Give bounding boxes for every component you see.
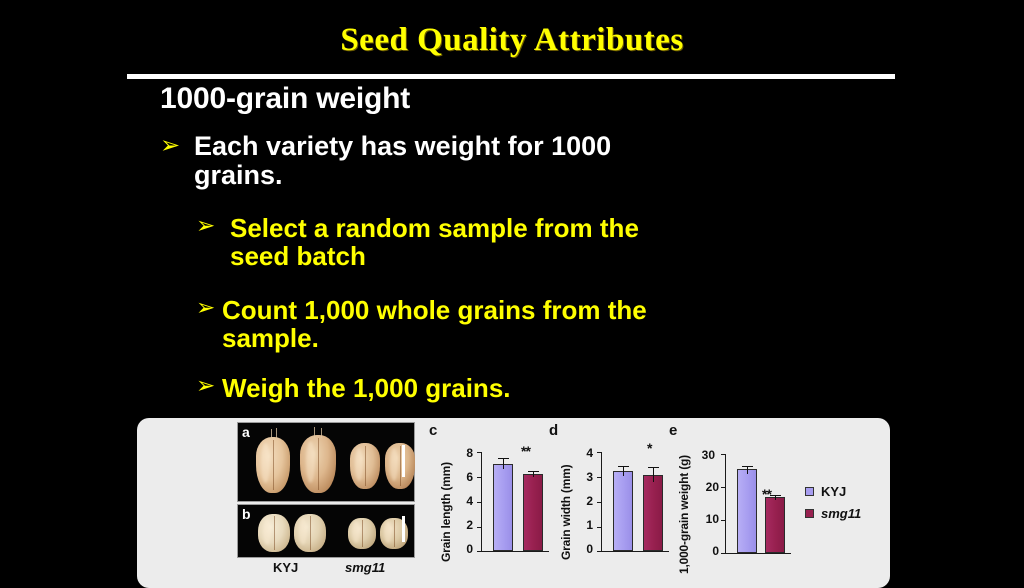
chart-c-errorbar-kyj [503, 459, 504, 469]
photo-panel-b: b [237, 504, 415, 558]
panel-label-a: a [242, 424, 250, 440]
arrow-bullet-icon: ➢ [196, 297, 222, 320]
bullet-item-2-text: Select a random sample from the seed bat… [222, 214, 639, 270]
seed-grain [300, 435, 336, 493]
panel-label-b: b [242, 506, 251, 522]
chart-d-yaxis [601, 452, 602, 552]
seed-vein [365, 446, 366, 486]
chart-e-tick [721, 553, 725, 554]
chart-d-ytick-2: 2 [571, 494, 593, 508]
seed-grain [294, 514, 326, 552]
seed-vein [310, 516, 311, 549]
legend-label-smg11: smg11 [821, 506, 861, 521]
scale-bar [402, 445, 405, 477]
chart-e-ytick-20: 20 [693, 480, 719, 494]
photo-caption-smg11: smg11 [345, 560, 385, 575]
title-divider [127, 74, 895, 79]
seed-sheen [261, 443, 270, 483]
chart-c-plot: ** [481, 452, 549, 552]
chart-legend: KYJ smg11 [805, 422, 890, 572]
chart-c-errorbar-smg11 [533, 472, 534, 477]
chart-e-errorbar-smg11 [775, 496, 776, 500]
seed-vein [318, 438, 319, 489]
chart-d-bar-kyj [613, 471, 633, 551]
chart-e-errorcap-smg11 [770, 495, 781, 496]
chart-c-significance: ** [521, 443, 530, 459]
bullet-item-1: ➢ Each variety has weight for 1000 grain… [160, 132, 800, 190]
seed-grain [256, 437, 290, 493]
chart-c-tick [477, 477, 481, 478]
seed-grain [258, 514, 290, 552]
chart-d-errorbar-kyj [623, 467, 624, 476]
chart-c-errorcap-kyj [498, 458, 509, 459]
chart-c-errorcap-smg11 [528, 471, 539, 472]
photo-panel-a: a [237, 422, 415, 502]
bullet-item-3-line1: Count 1,000 whole grains from the [222, 295, 647, 325]
chart-e-yaxis [725, 454, 726, 554]
scale-bar [402, 516, 405, 542]
bullet-item-2: ➢ Select a random sample from the seed b… [196, 214, 846, 270]
chart-c-ytick-4: 4 [451, 494, 473, 508]
chart-e-tick [721, 520, 725, 521]
chart-c-tick [477, 502, 481, 503]
chart-c-tick [477, 452, 481, 453]
seed-awn [276, 428, 277, 439]
arrow-bullet-icon: ➢ [196, 375, 222, 398]
seed-sheen [384, 521, 391, 543]
chart-d-tick [597, 477, 601, 478]
chart-d-errorbar-smg11 [653, 468, 654, 482]
chart-c-ytick-8: 8 [451, 446, 473, 460]
chart-e-ylabel: 1,000-grain weight (g) [677, 455, 691, 574]
chart-c-ytick-2: 2 [451, 518, 473, 532]
chart-d-xaxis [601, 551, 669, 552]
bullet-item-4-line1: Weigh the 1,000 grains. [222, 373, 511, 403]
chart-c-tick [477, 551, 481, 552]
seed-sheen [390, 448, 398, 481]
seed-vein [362, 520, 363, 547]
chart-d-tick [597, 502, 601, 503]
seed-grain [385, 443, 415, 489]
legend-item-kyj: KYJ [805, 484, 846, 499]
bullet-item-4-text: Weigh the 1,000 grains. [222, 374, 511, 402]
seed-vein [394, 520, 395, 547]
chart-d-bar-smg11 [643, 475, 663, 551]
panel-label-c: c [429, 422, 437, 439]
chart-d-ytick-0: 0 [571, 542, 593, 556]
chart-c-tick [477, 527, 481, 528]
chart-e-significance: ** [762, 486, 771, 502]
chart-panel-d: d Grain width (mm) 0 1 2 3 4 [547, 422, 672, 572]
chart-d-significance: * [647, 440, 651, 456]
legend-item-smg11: smg11 [805, 506, 861, 521]
chart-d-plot: * [601, 452, 669, 552]
chart-c-bar-smg11 [523, 474, 543, 551]
chart-panel-c: c Grain length (mm) 0 2 4 6 8 [427, 422, 552, 572]
chart-d-ytick-4: 4 [571, 446, 593, 460]
chart-e-ytick-10: 10 [693, 512, 719, 526]
chart-c-yaxis [481, 452, 482, 552]
bullet-item-2-line1: Select a random sample from the [230, 213, 639, 243]
chart-e-plot: ** [725, 454, 791, 554]
photo-caption-kyj: KYJ [273, 560, 298, 575]
legend-swatch-smg11 [805, 509, 814, 518]
chart-d-tick [597, 452, 601, 453]
bullet-item-3: ➢ Count 1,000 whole grains from the samp… [196, 296, 876, 352]
chart-e-tick [721, 454, 725, 455]
chart-e-bar-kyj [737, 469, 757, 553]
seed-grain [350, 443, 380, 489]
figure-panel: a b [137, 418, 890, 588]
chart-e-xaxis [725, 553, 791, 554]
seed-awn [314, 427, 315, 438]
chart-d-errorcap-kyj [618, 466, 629, 467]
panel-label-d: d [549, 422, 558, 439]
seed-awn [271, 429, 272, 439]
chart-e-ytick-0: 0 [693, 544, 719, 558]
chart-d-ytick-1: 1 [571, 518, 593, 532]
chart-d-tick [597, 551, 601, 552]
bullet-item-4: ➢ Weigh the 1,000 grains. [196, 374, 816, 402]
seed-sheen [355, 448, 363, 481]
bullet-item-3-line2: sample. [222, 323, 319, 353]
chart-e-errorbar-kyj [747, 467, 748, 474]
chart-c-ytick-6: 6 [451, 470, 473, 484]
chart-c-bar-kyj [493, 464, 513, 551]
chart-d-ytick-3: 3 [571, 470, 593, 484]
seed-sheen [306, 441, 315, 483]
chart-e-errorcap-kyj [742, 466, 753, 467]
bullet-item-1-line2: grains. [194, 160, 283, 190]
seed-awn [321, 428, 322, 438]
seed-sheen [299, 518, 307, 545]
arrow-bullet-icon: ➢ [160, 133, 186, 157]
legend-label-kyj: KYJ [821, 484, 846, 499]
chart-e-bar-smg11 [765, 497, 785, 553]
bullet-item-2-line2: seed batch [230, 241, 366, 271]
arrow-bullet-icon: ➢ [196, 215, 222, 238]
seed-vein [274, 516, 275, 549]
bullet-item-1-line1: Each variety has weight for 1000 [194, 131, 611, 161]
slide: Seed Quality Attributes 1000-grain weigh… [0, 0, 1024, 576]
chart-d-tick [597, 527, 601, 528]
page-title: Seed Quality Attributes [0, 22, 1024, 59]
panel-label-e: e [669, 422, 677, 439]
seed-sheen [263, 518, 271, 545]
bullet-item-1-text: Each variety has weight for 1000 grains. [186, 132, 611, 190]
section-heading: 1000-grain weight [160, 82, 410, 116]
chart-e-tick [721, 487, 725, 488]
chart-d-errorcap-smg11 [648, 467, 659, 468]
bullet-item-3-text: Count 1,000 whole grains from the sample… [222, 296, 647, 352]
legend-swatch-kyj [805, 487, 814, 496]
chart-c-ytick-0: 0 [451, 542, 473, 556]
figure-inner: a b [137, 418, 890, 588]
seed-sheen [352, 521, 359, 543]
seed-vein [273, 440, 274, 489]
chart-c-xaxis [481, 551, 549, 552]
seed-grain [348, 518, 376, 549]
chart-panel-e: e 1,000-grain weight (g) 0 10 20 30 [667, 422, 802, 572]
chart-e-ytick-30: 30 [693, 448, 715, 462]
seed-vein [400, 446, 401, 486]
